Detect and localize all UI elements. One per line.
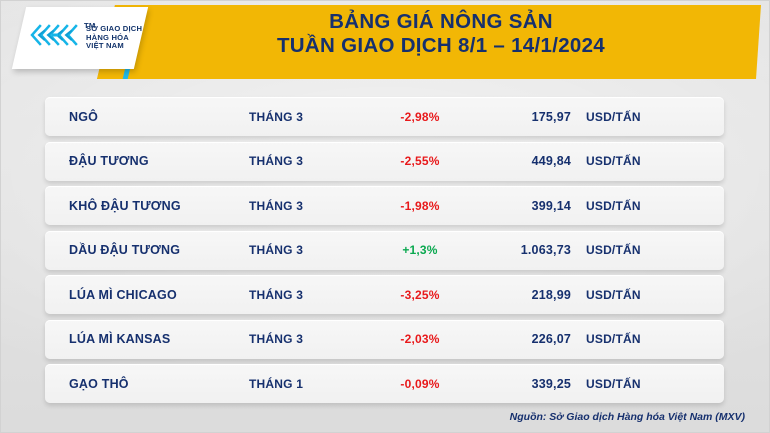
- contract-month: THÁNG 3: [249, 288, 303, 302]
- price-table: NGÔTHÁNG 3-2,98%175,97USD/TẤNĐẬU TƯƠNGTH…: [45, 97, 724, 409]
- contract-month: THÁNG 3: [249, 199, 303, 213]
- logo-card: TM SỞ GIAO DỊCH HÀNG HÓA VIỆT NAM: [12, 7, 148, 69]
- price-change: -2,98%: [365, 110, 475, 124]
- logo-line-3: VIỆT NAM: [86, 42, 142, 51]
- price-value: 1.063,73: [465, 243, 571, 257]
- table-row: KHÔ ĐẬU TƯƠNGTHÁNG 3-1,98%399,14USD/TẤN: [45, 186, 724, 225]
- price-unit: USD/TẤN: [586, 110, 641, 124]
- price-value: 218,99: [465, 288, 571, 302]
- price-change: -0,09%: [365, 377, 475, 391]
- price-value: 339,25: [465, 377, 571, 391]
- price-change: -3,25%: [365, 288, 475, 302]
- logo-trademark: TM: [84, 22, 95, 31]
- price-unit: USD/TẤN: [586, 154, 641, 168]
- title-line-2: TUẦN GIAO DỊCH 8/1 – 14/1/2024: [151, 34, 731, 58]
- price-change: -1,98%: [365, 199, 475, 213]
- table-row: LÚA MÌ KANSASTHÁNG 3-2,03%226,07USD/TẤN: [45, 320, 724, 359]
- price-value: 449,84: [465, 154, 571, 168]
- commodity-name: NGÔ: [69, 110, 98, 124]
- contract-month: THÁNG 3: [249, 332, 303, 346]
- page-title: BẢNG GIÁ NÔNG SẢN TUẦN GIAO DỊCH 8/1 – 1…: [151, 10, 731, 58]
- contract-month: THÁNG 3: [249, 154, 303, 168]
- table-row: DẦU ĐẬU TƯƠNGTHÁNG 3+1,3%1.063,73USD/TẤN: [45, 231, 724, 270]
- price-value: 399,14: [465, 199, 571, 213]
- table-row: GẠO THÔTHÁNG 1-0,09%339,25USD/TẤN: [45, 364, 724, 403]
- price-unit: USD/TẤN: [586, 288, 641, 302]
- contract-month: THÁNG 3: [249, 243, 303, 257]
- price-unit: USD/TẤN: [586, 332, 641, 346]
- price-unit: USD/TẤN: [586, 199, 641, 213]
- table-row: ĐẬU TƯƠNGTHÁNG 3-2,55%449,84USD/TẤN: [45, 142, 724, 181]
- contract-month: THÁNG 3: [249, 110, 303, 124]
- contract-month: THÁNG 1: [249, 377, 303, 391]
- price-change: +1,3%: [365, 243, 475, 257]
- commodity-name: GẠO THÔ: [69, 377, 129, 391]
- commodity-name: KHÔ ĐẬU TƯƠNG: [69, 199, 181, 213]
- price-value: 175,97: [465, 110, 571, 124]
- price-change: -2,55%: [365, 154, 475, 168]
- price-change: -2,03%: [365, 332, 475, 346]
- commodity-name: DẦU ĐẬU TƯƠNG: [69, 243, 180, 257]
- agricultural-price-board: TM SỞ GIAO DỊCH HÀNG HÓA VIỆT NAM BẢNG G…: [0, 0, 770, 433]
- price-unit: USD/TẤN: [586, 377, 641, 391]
- logo-text-block: TM SỞ GIAO DỊCH HÀNG HÓA VIỆT NAM: [86, 25, 142, 51]
- commodity-name: ĐẬU TƯƠNG: [69, 154, 149, 168]
- price-unit: USD/TẤN: [586, 243, 641, 257]
- table-row: NGÔTHÁNG 3-2,98%175,97USD/TẤN: [45, 97, 724, 136]
- price-value: 226,07: [465, 332, 571, 346]
- commodity-name: LÚA MÌ KANSAS: [69, 332, 170, 346]
- header: TM SỞ GIAO DỊCH HÀNG HÓA VIỆT NAM BẢNG G…: [1, 1, 770, 83]
- mxv-maze-logo-icon: [29, 23, 81, 53]
- title-line-1: BẢNG GIÁ NÔNG SẢN: [151, 10, 731, 34]
- commodity-name: LÚA MÌ CHICAGO: [69, 288, 177, 302]
- table-row: LÚA MÌ CHICAGOTHÁNG 3-3,25%218,99USD/TẤN: [45, 275, 724, 314]
- source-note: Nguồn: Sở Giao dịch Hàng hóa Việt Nam (M…: [510, 411, 745, 423]
